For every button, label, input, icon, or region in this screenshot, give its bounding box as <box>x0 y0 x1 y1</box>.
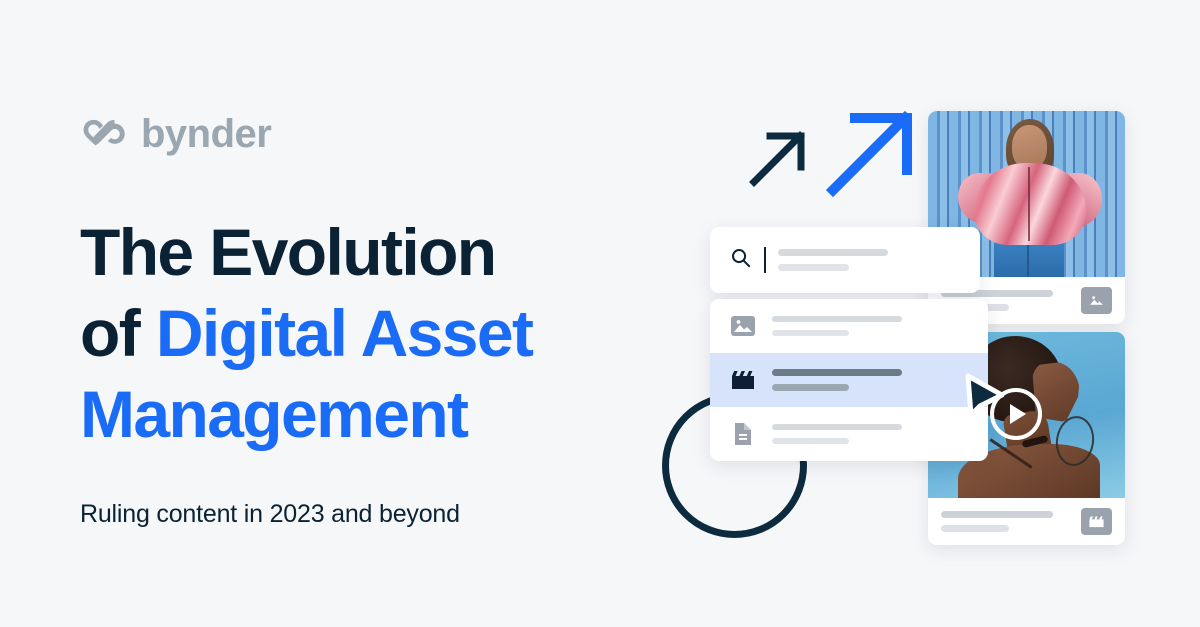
page-subtitle: Ruling content in 2023 and beyond <box>80 500 640 529</box>
asset-meta-placeholder <box>941 511 1071 532</box>
placeholder-line <box>772 424 902 430</box>
result-row-image[interactable] <box>710 299 988 353</box>
placeholder-line <box>778 249 888 256</box>
banner-canvas: bynder The Evolution of Digital Asset Ma… <box>0 0 1200 627</box>
placeholder-line <box>941 525 1009 532</box>
headline-line-1: The Evolution <box>80 215 496 289</box>
result-text-placeholder <box>772 424 969 444</box>
bynder-heart-link-mark-icon <box>80 114 128 154</box>
video-icon <box>729 367 757 393</box>
headline-line-2-plain: of <box>80 296 156 370</box>
illustration-group <box>640 96 1160 566</box>
search-results-list <box>710 299 988 461</box>
headline-line-2-accent: Digital Asset <box>156 296 533 370</box>
result-text-placeholder <box>772 369 969 391</box>
asset-card-footer <box>928 498 1125 545</box>
photo-detail <box>1028 167 1030 241</box>
result-text-placeholder <box>772 316 969 336</box>
placeholder-line <box>772 438 849 444</box>
arrow-up-right-small-icon <box>748 126 810 188</box>
page-title: The Evolution of Digital Asset Managemen… <box>80 212 640 456</box>
placeholder-line <box>772 384 849 391</box>
mouse-pointer-icon <box>958 368 1014 428</box>
placeholder-line <box>778 264 849 271</box>
photo-detail <box>974 163 1086 245</box>
headline-line-3-accent: Management <box>80 377 467 451</box>
result-row-video[interactable] <box>710 353 988 407</box>
document-icon <box>729 421 757 447</box>
text-cursor <box>764 247 766 273</box>
image-icon <box>1081 287 1112 314</box>
search-input[interactable] <box>778 249 961 271</box>
result-row-document[interactable] <box>710 407 988 461</box>
arrow-up-right-large-icon <box>825 106 917 198</box>
placeholder-line <box>772 330 849 336</box>
hero-text-column: bynder The Evolution of Digital Asset Ma… <box>80 108 640 529</box>
brand-logo[interactable]: bynder <box>80 108 640 160</box>
video-icon <box>1081 508 1112 535</box>
brand-name: bynder <box>141 114 271 154</box>
placeholder-line <box>772 316 902 322</box>
search-bar[interactable] <box>710 227 980 293</box>
image-icon <box>729 313 757 339</box>
placeholder-line <box>941 511 1053 518</box>
placeholder-line <box>772 369 902 376</box>
search-icon <box>729 246 752 274</box>
